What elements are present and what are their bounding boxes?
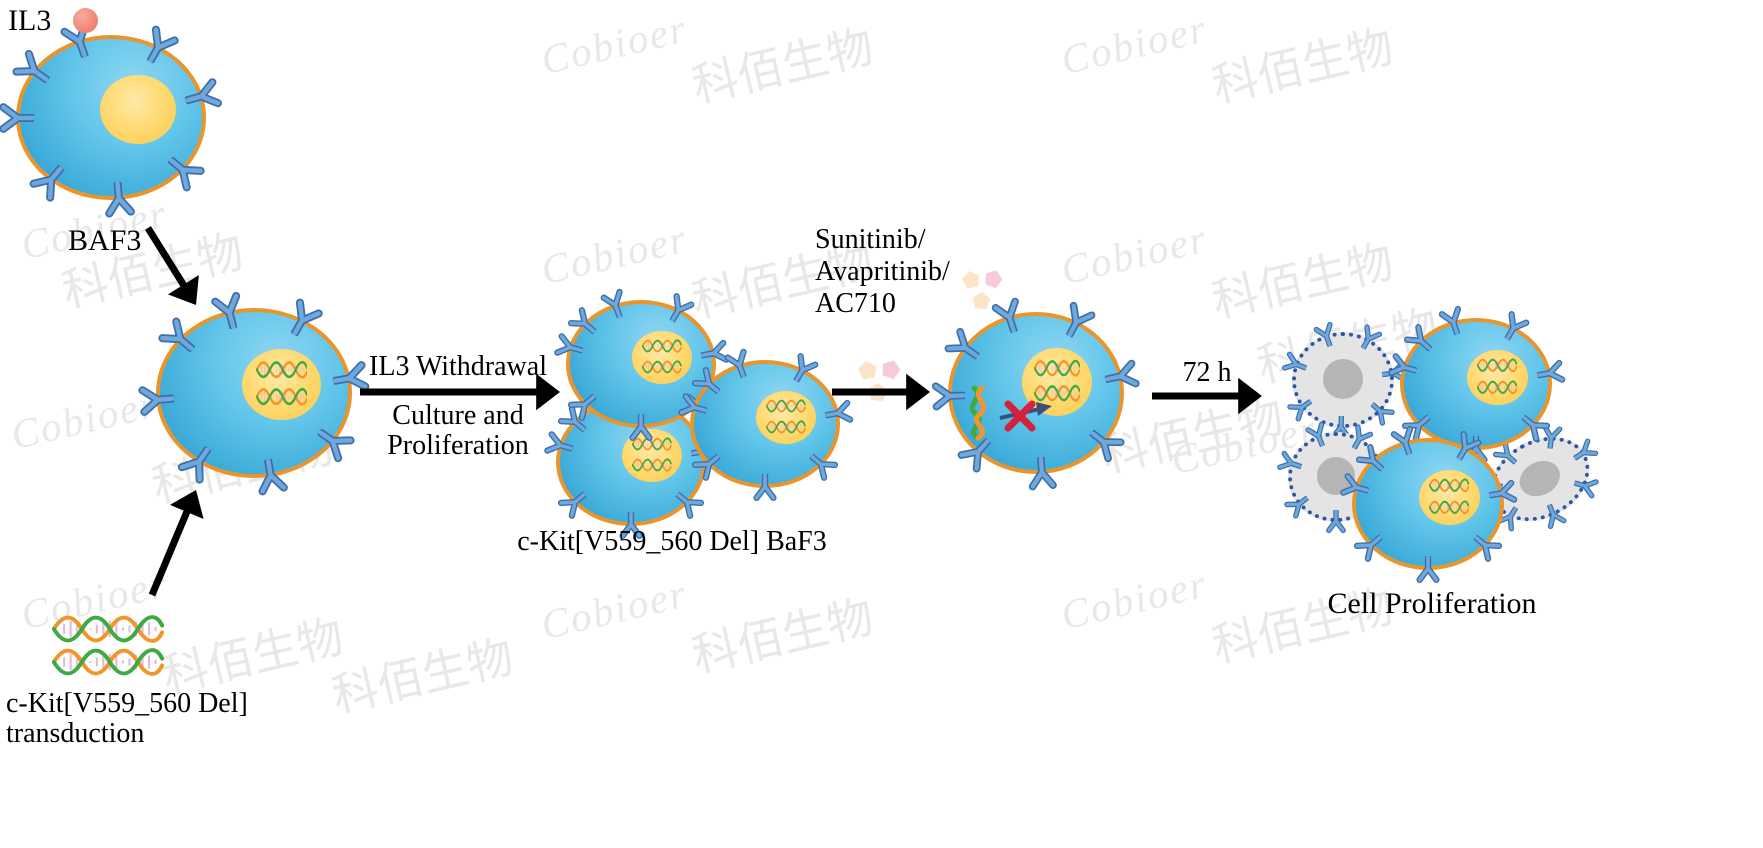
surviving-cell-top [1400, 318, 1552, 450]
drug-label-line2: Avapritinib/ [815, 254, 950, 290]
cluster-name-label: c-Kit[V559_560 Del] BaF3 [517, 524, 827, 560]
outcome-label: Cell Proliferation [1327, 585, 1536, 623]
baf3-parental-cell [16, 35, 206, 200]
watermark-text: 科佰生物 [685, 580, 879, 686]
watermark-text: 科佰生物 [325, 620, 519, 726]
watermark-text: 科佰生物 [685, 10, 879, 116]
watermark-text: Cobioer [537, 569, 692, 649]
receptor-icon [250, 456, 292, 498]
duration-label: 72 h [1183, 355, 1232, 391]
nuclear-dna-icon [1034, 358, 1080, 383]
nuclear-dna-icon [1429, 477, 1469, 499]
receptor-icon [627, 414, 655, 442]
receptor-icon [1487, 476, 1519, 508]
receptor-icon [1535, 356, 1567, 388]
nuclear-dna-icon [632, 457, 672, 478]
arrow-baf3-to-transduced [118, 198, 226, 335]
nuclear-dna-icon [1429, 499, 1469, 521]
blocked-signal-overlay [960, 382, 1100, 454]
nuclear-dna-icon [766, 419, 806, 440]
drug-molecule-icon-top [960, 268, 1007, 313]
receptor-icon [1324, 510, 1348, 534]
receptor-icon [1024, 456, 1060, 492]
transduction-dna-icon [52, 645, 164, 684]
watermark-text: Cobioer [1057, 559, 1212, 639]
nuclear-dna-icon [766, 398, 806, 419]
apoptotic-cell-top [1292, 332, 1394, 428]
receptor-icon [137, 381, 176, 420]
arrow-dna-to-transduced [122, 460, 226, 625]
watermark-text: Cobioer [537, 4, 692, 84]
culture-label-line2: Proliferation [387, 428, 529, 464]
watermark-text: Cobioer [1057, 4, 1212, 84]
il3-label: IL3 [8, 2, 51, 40]
nuclear-dna-icon [1477, 379, 1517, 401]
receptor-icon [751, 474, 779, 502]
nuclear-dna-icon [1477, 357, 1517, 379]
nuclear-dna-icon [642, 338, 682, 359]
transduction-label-line2: transduction [6, 716, 144, 752]
drug-label-line1: Sunitinib/ [815, 222, 925, 258]
receptor-icon [0, 100, 34, 136]
nuclear-dna-icon [256, 386, 308, 412]
watermark-text: Cobioer [537, 214, 692, 294]
il3-ligand-icon [73, 8, 98, 33]
receptor-icon [1414, 556, 1442, 584]
watermark-text: Cobioer [1057, 214, 1212, 294]
watermark-text: 科佰生物 [1205, 225, 1399, 331]
nuclear-dna-icon [256, 359, 308, 385]
watermark-text: 科佰生物 [1205, 10, 1399, 116]
drug-label-line3: AC710 [815, 286, 896, 322]
nuclear-dna-icon [642, 359, 682, 380]
surviving-cell-bottom [1352, 438, 1504, 570]
il3-withdrawal-label: IL3 Withdrawal [369, 349, 547, 385]
diagram-canvas: Cobioer科佰生物Cobioer科佰生物Cobioer科佰生物Cobioer… [0, 0, 1763, 848]
baf3-label: BAF3 [68, 222, 141, 260]
nucleus [100, 75, 176, 144]
arrow-drug-treatment [802, 362, 960, 422]
